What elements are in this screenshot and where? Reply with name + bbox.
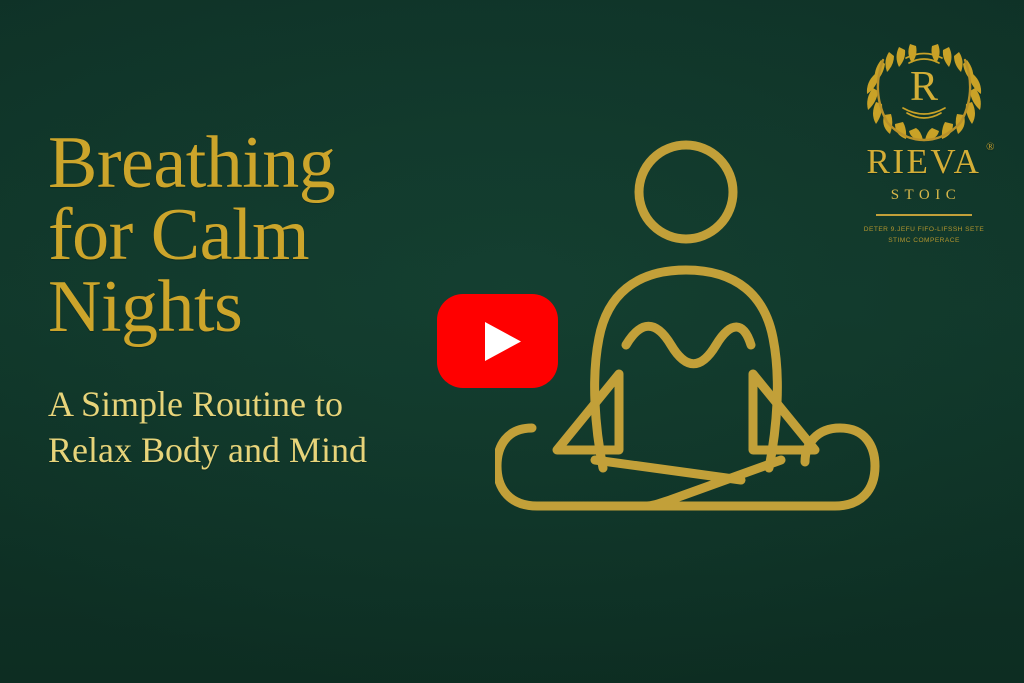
slide-canvas: Breathing for Calm Nights A Simple Routi… — [0, 0, 1024, 683]
figure-left-arm — [557, 374, 619, 450]
brand-wordmark: RIEVA ® — [867, 144, 982, 179]
laurel-wreath-icon: R — [861, 30, 987, 142]
figure-crossed-leg-left — [595, 460, 741, 480]
figure-head-icon — [639, 145, 733, 239]
meditation-figure — [495, 128, 885, 528]
brand-tagline: DETER 9.JEFU FIFO-LIFSSH SETE STIMC COMP… — [856, 224, 992, 247]
figure-right-arm — [753, 374, 815, 450]
breath-wave-icon — [626, 326, 751, 364]
wreath-letter: R — [910, 64, 938, 110]
page-subtitle: A Simple Routine to Relax Body and Mind — [48, 343, 478, 473]
page-title: Breathing for Calm Nights — [48, 128, 478, 343]
brand-divider — [876, 214, 972, 216]
brand-logo: R RIEVA ® STOIC DETER 9.JEFU FIFO-LIFSSH… — [856, 30, 992, 247]
brand-wordmark-text: RIEVA — [867, 142, 982, 181]
text-block: Breathing for Calm Nights A Simple Routi… — [48, 128, 478, 473]
registered-trademark-icon: ® — [986, 142, 994, 153]
brand-subname: STOIC — [856, 188, 992, 203]
